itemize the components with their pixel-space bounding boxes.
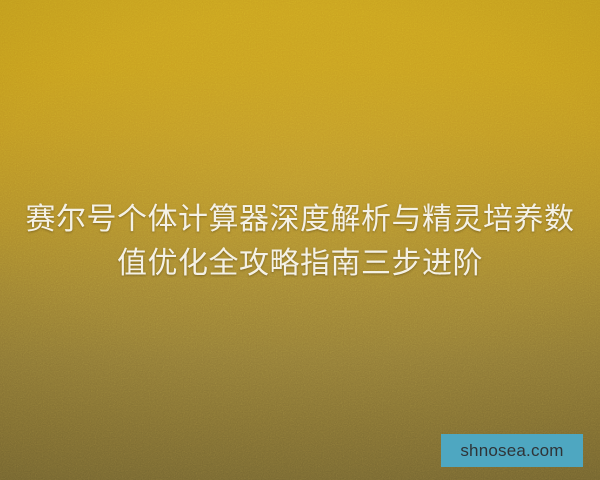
title-line-2: 值优化全攻略指南三步进阶	[18, 242, 582, 286]
page-title: 赛尔号个体计算器深度解析与精灵培养数 值优化全攻略指南三步进阶	[0, 198, 600, 286]
watermark-label: shnosea.com	[460, 442, 563, 459]
title-line-1: 赛尔号个体计算器深度解析与精灵培养数	[18, 198, 582, 242]
watermark-badge: shnosea.com	[441, 434, 583, 467]
title-card: 赛尔号个体计算器深度解析与精灵培养数 值优化全攻略指南三步进阶 shnosea.…	[0, 0, 600, 480]
